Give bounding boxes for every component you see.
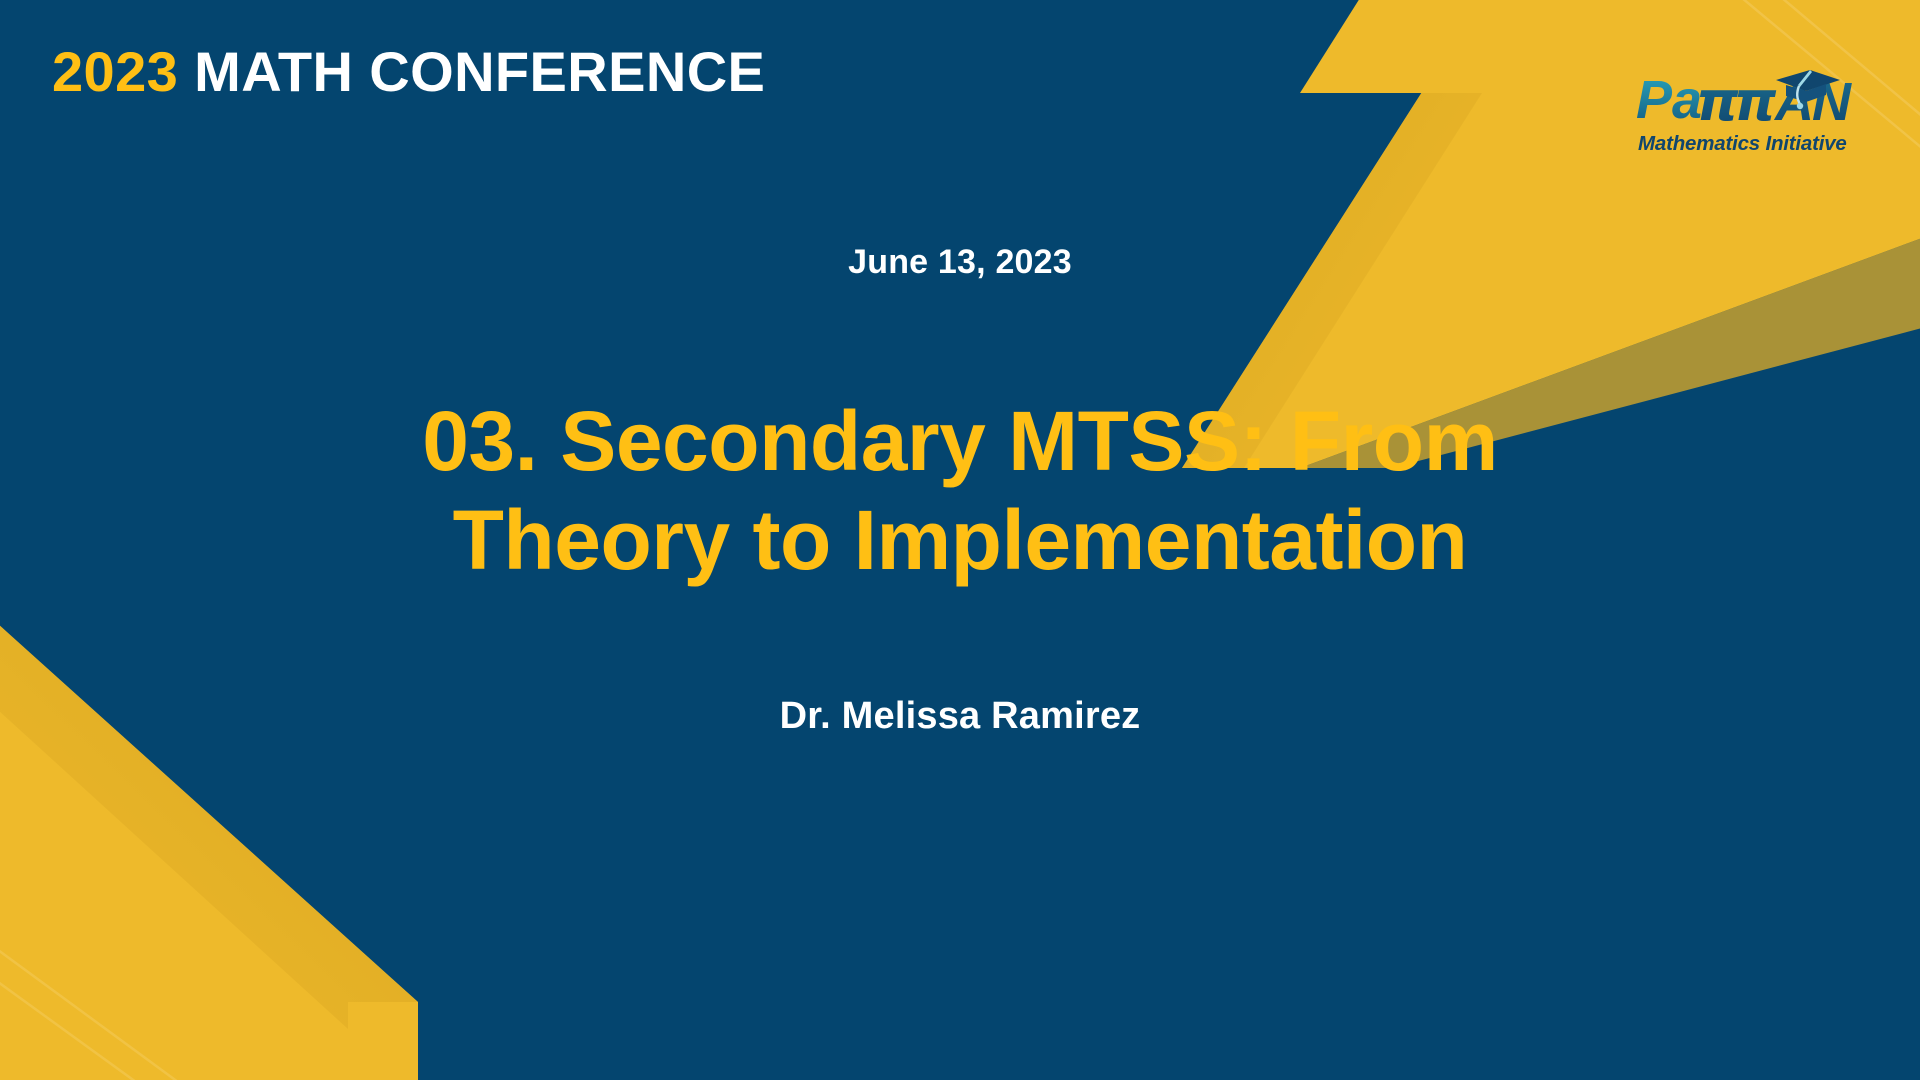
presentation-slide: 2023 MATH CONFERENCE June 13, 2023 03. S… — [0, 0, 1920, 1080]
logo-text-pa: Pa — [1636, 70, 1702, 130]
slide-title: 03. Secondary MTSS: From Theory to Imple… — [315, 392, 1605, 590]
conference-name: MATH CONFERENCE — [178, 40, 765, 103]
logo-tagline: Mathematics Initiative — [1638, 132, 1847, 155]
conference-year: 2023 — [52, 40, 178, 103]
pattan-logo: Pa ππ AN Mathematics Initiative — [1634, 56, 1884, 160]
presenter-name: Dr. Melissa Ramirez — [0, 695, 1920, 738]
slide-title-line-1: 03. Secondary MTSS: From — [315, 392, 1605, 491]
bottom-left-decoration — [0, 562, 638, 1080]
conference-heading: 2023 MATH CONFERENCE — [52, 36, 872, 108]
bottom-left-band-shape — [0, 562, 638, 1080]
slide-date: June 13, 2023 — [0, 243, 1920, 282]
logo-text-pi: ππ — [1696, 70, 1777, 133]
pattan-logo-mark: Pa ππ AN Mathematics Initiative — [1634, 56, 1884, 160]
slide-title-line-2: Theory to Implementation — [315, 491, 1605, 590]
